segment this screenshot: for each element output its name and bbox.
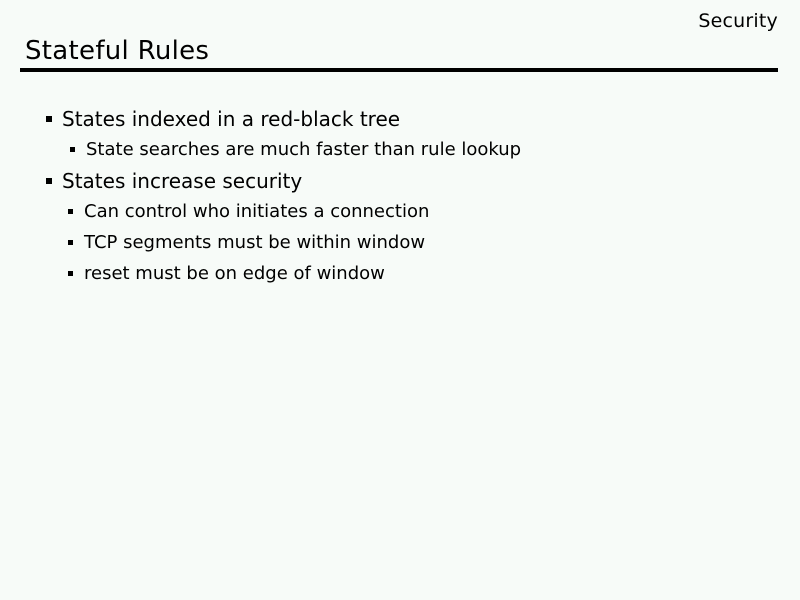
bullet-list: States indexed in a red-black tree State… xyxy=(0,106,800,292)
bullet-square-icon xyxy=(46,178,52,184)
list-item: States increase security xyxy=(0,168,800,199)
bullet-square-icon xyxy=(70,147,75,152)
bullet-square-icon xyxy=(68,271,73,276)
title-divider xyxy=(20,68,778,72)
list-item-label: TCP segments must be within window xyxy=(84,230,425,256)
bullet-square-icon xyxy=(68,240,73,245)
list-item: States indexed in a red-black tree xyxy=(0,106,800,137)
list-item-label: States increase security xyxy=(62,168,302,194)
list-item: State searches are much faster than rule… xyxy=(0,137,800,168)
list-item: reset must be on edge of window xyxy=(0,261,800,292)
bullet-square-icon xyxy=(46,116,52,122)
list-item-label: States indexed in a red-black tree xyxy=(62,106,400,132)
list-item: Can control who initiates a connection xyxy=(0,199,800,230)
bullet-square-icon xyxy=(68,209,73,214)
page-title: Stateful Rules xyxy=(25,36,209,66)
slide: Security Stateful Rules States indexed i… xyxy=(0,0,800,600)
slide-header-label: Security xyxy=(698,9,778,33)
list-item-label: reset must be on edge of window xyxy=(84,261,385,287)
list-item-label: Can control who initiates a connection xyxy=(84,199,429,225)
list-item: TCP segments must be within window xyxy=(0,230,800,261)
list-item-label: State searches are much faster than rule… xyxy=(86,137,521,163)
